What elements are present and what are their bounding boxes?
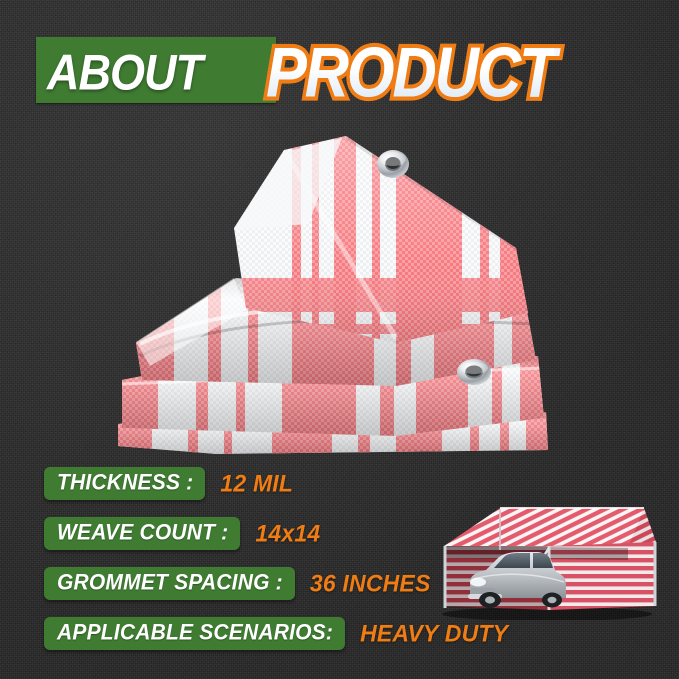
spec-label-grommet-spacing: GROMMET SPACING : [57, 570, 283, 595]
grommet-right [457, 359, 491, 385]
spec-value-grommet-spacing: 36 INCHES [310, 569, 431, 597]
header-title-product-wrap: PRODUCT PRODUCT [266, 30, 549, 116]
header-title-about: ABOUT [47, 48, 202, 97]
carport-illustration [432, 502, 660, 620]
spec-value-weave-count: 14x14 [255, 519, 320, 547]
header-title-product: PRODUCT [266, 22, 554, 123]
spec-row-thickness: THICKNESS : 12 MIL [0, 458, 679, 508]
spec-label-badge-weave-count: WEAVE COUNT : [44, 517, 240, 550]
spec-label-weave-count: WEAVE COUNT : [57, 520, 228, 545]
product-photo-folded-tarp [96, 128, 556, 458]
header-banner: ABOUT PRODUCT PRODUCT [0, 30, 679, 116]
spec-label-badge-thickness: THICKNESS : [44, 467, 205, 500]
product-infographic: ABOUT PRODUCT PRODUCT [0, 0, 679, 679]
spec-label-applicable-scenarios: APPLICABLE SCENARIOS: [57, 620, 333, 645]
inset-photo-carport [432, 502, 660, 620]
grommet-top [377, 150, 409, 178]
spec-label-badge-applicable-scenarios: APPLICABLE SCENARIOS: [44, 617, 345, 650]
spec-value-thickness: 12 MIL [220, 469, 293, 497]
spec-label-badge-grommet-spacing: GROMMET SPACING : [44, 567, 295, 600]
spec-label-thickness: THICKNESS : [57, 470, 193, 495]
tarp-illustration [96, 128, 556, 458]
spec-value-applicable-scenarios: HEAVY DUTY [360, 619, 508, 647]
